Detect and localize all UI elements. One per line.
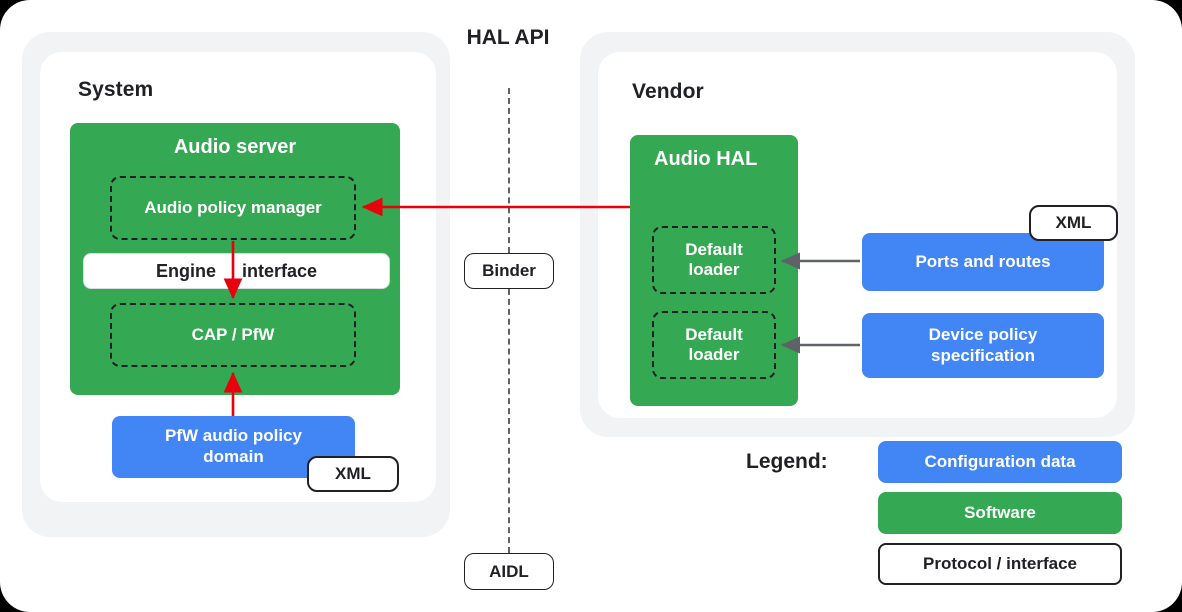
xml-badge-ports: XML: [1029, 205, 1118, 241]
engine-interface-word-1: Engine: [156, 261, 216, 282]
audio-policy-manager-box: Audio policy manager: [110, 176, 356, 240]
default-loader-box-2: Default loader: [652, 311, 776, 379]
system-title: System: [78, 78, 153, 102]
default-loader-2-line-2: loader: [688, 345, 739, 365]
aidl-pill: AIDL: [464, 553, 554, 590]
engine-interface-bar: Engine interface: [83, 253, 390, 289]
audio-hal-title: Audio HAL: [654, 148, 798, 171]
default-loader-1-line-2: loader: [688, 260, 739, 280]
diagram-canvas: System Audio server Audio policy manager…: [0, 0, 1182, 612]
binder-pill: Binder: [464, 253, 554, 289]
device-policy-line-2: specification: [931, 346, 1035, 367]
pfw-domain-line-1: PfW audio policy: [165, 426, 302, 447]
default-loader-1-line-1: Default: [685, 240, 743, 260]
audio-server-title: Audio server: [70, 136, 400, 159]
legend-chip-protocol-interface: Protocol / interface: [878, 543, 1122, 585]
default-loader-2-line-1: Default: [685, 325, 743, 345]
ports-and-routes-box: Ports and routes: [862, 233, 1104, 291]
vendor-title: Vendor: [632, 80, 704, 104]
xml-badge-pfw: XML: [307, 456, 399, 492]
cap-pfw-box: CAP / PfW: [110, 303, 356, 367]
legend-chip-configuration-data: Configuration data: [878, 441, 1122, 483]
legend-title: Legend:: [746, 450, 828, 474]
device-policy-line-1: Device policy: [929, 325, 1038, 346]
default-loader-box-1: Default loader: [652, 226, 776, 294]
divider-line-bottom: [508, 289, 510, 553]
device-policy-specification-box: Device policy specification: [862, 313, 1104, 378]
pfw-domain-line-2: domain: [203, 447, 263, 468]
hal-api-label: HAL API: [432, 26, 584, 50]
legend-chip-software: Software: [878, 492, 1122, 534]
divider-line-top: [508, 88, 510, 253]
engine-interface-word-2: interface: [242, 261, 317, 282]
